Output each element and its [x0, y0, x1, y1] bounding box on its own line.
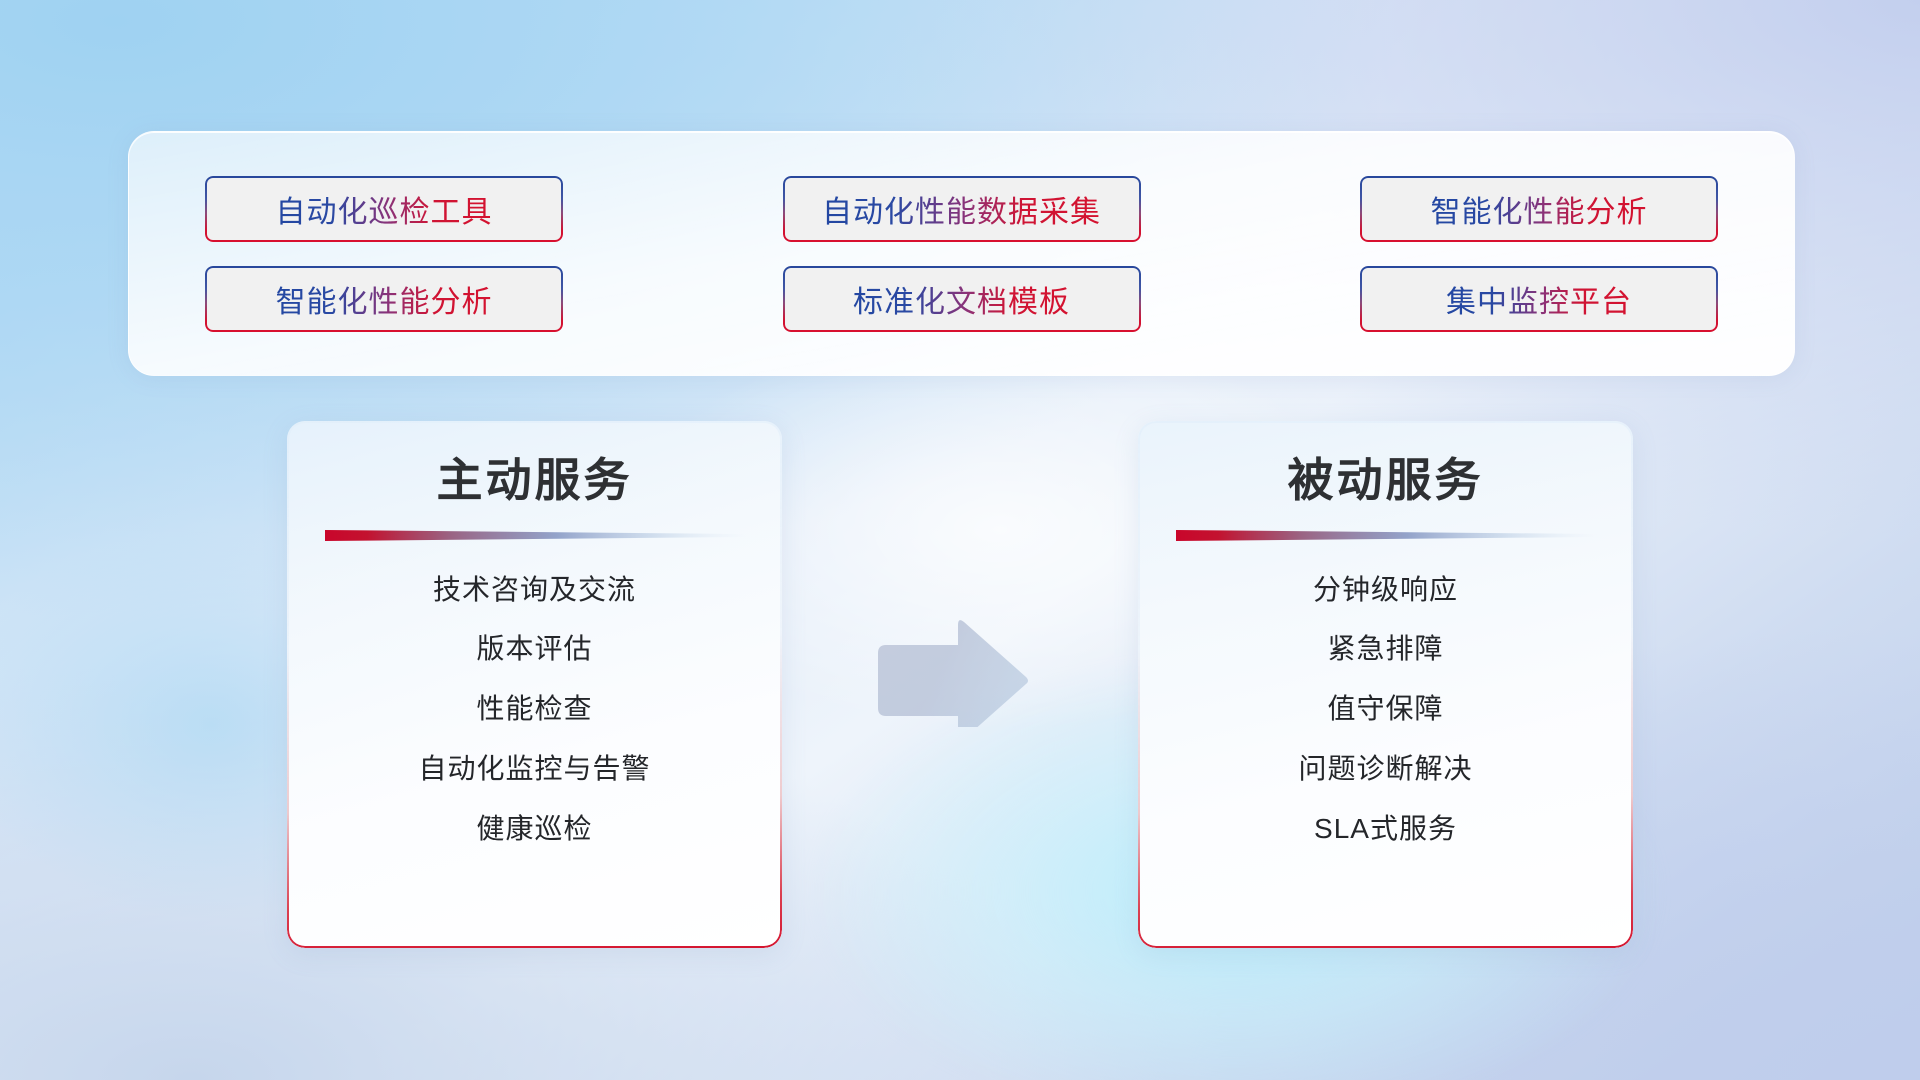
list-item: SLA式服务 [1168, 810, 1603, 848]
card-title-divider [325, 528, 746, 541]
capability-pill-auto-inspection-tool[interactable]: 自动化巡检工具 [205, 176, 563, 242]
list-item: 自动化监控与告警 [317, 750, 752, 788]
capability-pill-label: 智能化性能分析 [276, 277, 493, 321]
capability-row-2: 智能化性能分析 标准化文档模板 集中监控平台 [205, 266, 1718, 332]
service-card-passive: 被动服务 分钟级响应 紧急排障 值守保障 [1138, 421, 1633, 948]
list-item: 健康巡检 [317, 810, 752, 848]
list-item: 问题诊断解决 [1168, 750, 1603, 788]
list-item: 性能检查 [317, 690, 752, 728]
capability-pill-standard-doc-template[interactable]: 标准化文档模板 [783, 266, 1141, 332]
list-item: 版本评估 [317, 630, 752, 668]
capability-pill-label: 标准化文档模板 [853, 277, 1070, 321]
capability-pill-intelligent-performance-analysis-bottom[interactable]: 智能化性能分析 [205, 266, 563, 332]
card-title: 被动服务 [1168, 455, 1603, 506]
capability-pill-label: 智能化性能分析 [1431, 187, 1648, 231]
service-card-active: 主动服务 技术咨询及交流 版本评估 性能检查 [287, 421, 782, 948]
capability-pill-intelligent-performance-analysis-top[interactable]: 智能化性能分析 [1360, 176, 1718, 242]
card-title-divider [1176, 528, 1597, 541]
capability-row-1: 自动化巡检工具 自动化性能数据采集 智能化性能分析 [205, 176, 1718, 242]
service-list: 分钟级响应 紧急排障 值守保障 问题诊断解决 SLA式服务 [1168, 571, 1603, 848]
capability-pill-label: 自动化巡检工具 [276, 187, 493, 231]
right-arrow-icon [872, 617, 1032, 727]
service-list: 技术咨询及交流 版本评估 性能检查 自动化监控与告警 健康巡检 [317, 571, 752, 848]
capability-pill-label: 自动化性能数据采集 [822, 187, 1101, 231]
list-item: 值守保障 [1168, 690, 1603, 728]
capability-pill-auto-performance-data-collection[interactable]: 自动化性能数据采集 [783, 176, 1141, 242]
list-item: 分钟级响应 [1168, 571, 1603, 609]
card-title: 主动服务 [317, 455, 752, 506]
capability-pill-centralized-monitoring-platform[interactable]: 集中监控平台 [1360, 266, 1718, 332]
list-item: 技术咨询及交流 [317, 571, 752, 609]
capability-panel: 自动化巡检工具 自动化性能数据采集 智能化性能分析 智能化性能分析 标准化文档模… [128, 131, 1795, 376]
capability-pill-label: 集中监控平台 [1446, 277, 1632, 321]
list-item: 紧急排障 [1168, 630, 1603, 668]
